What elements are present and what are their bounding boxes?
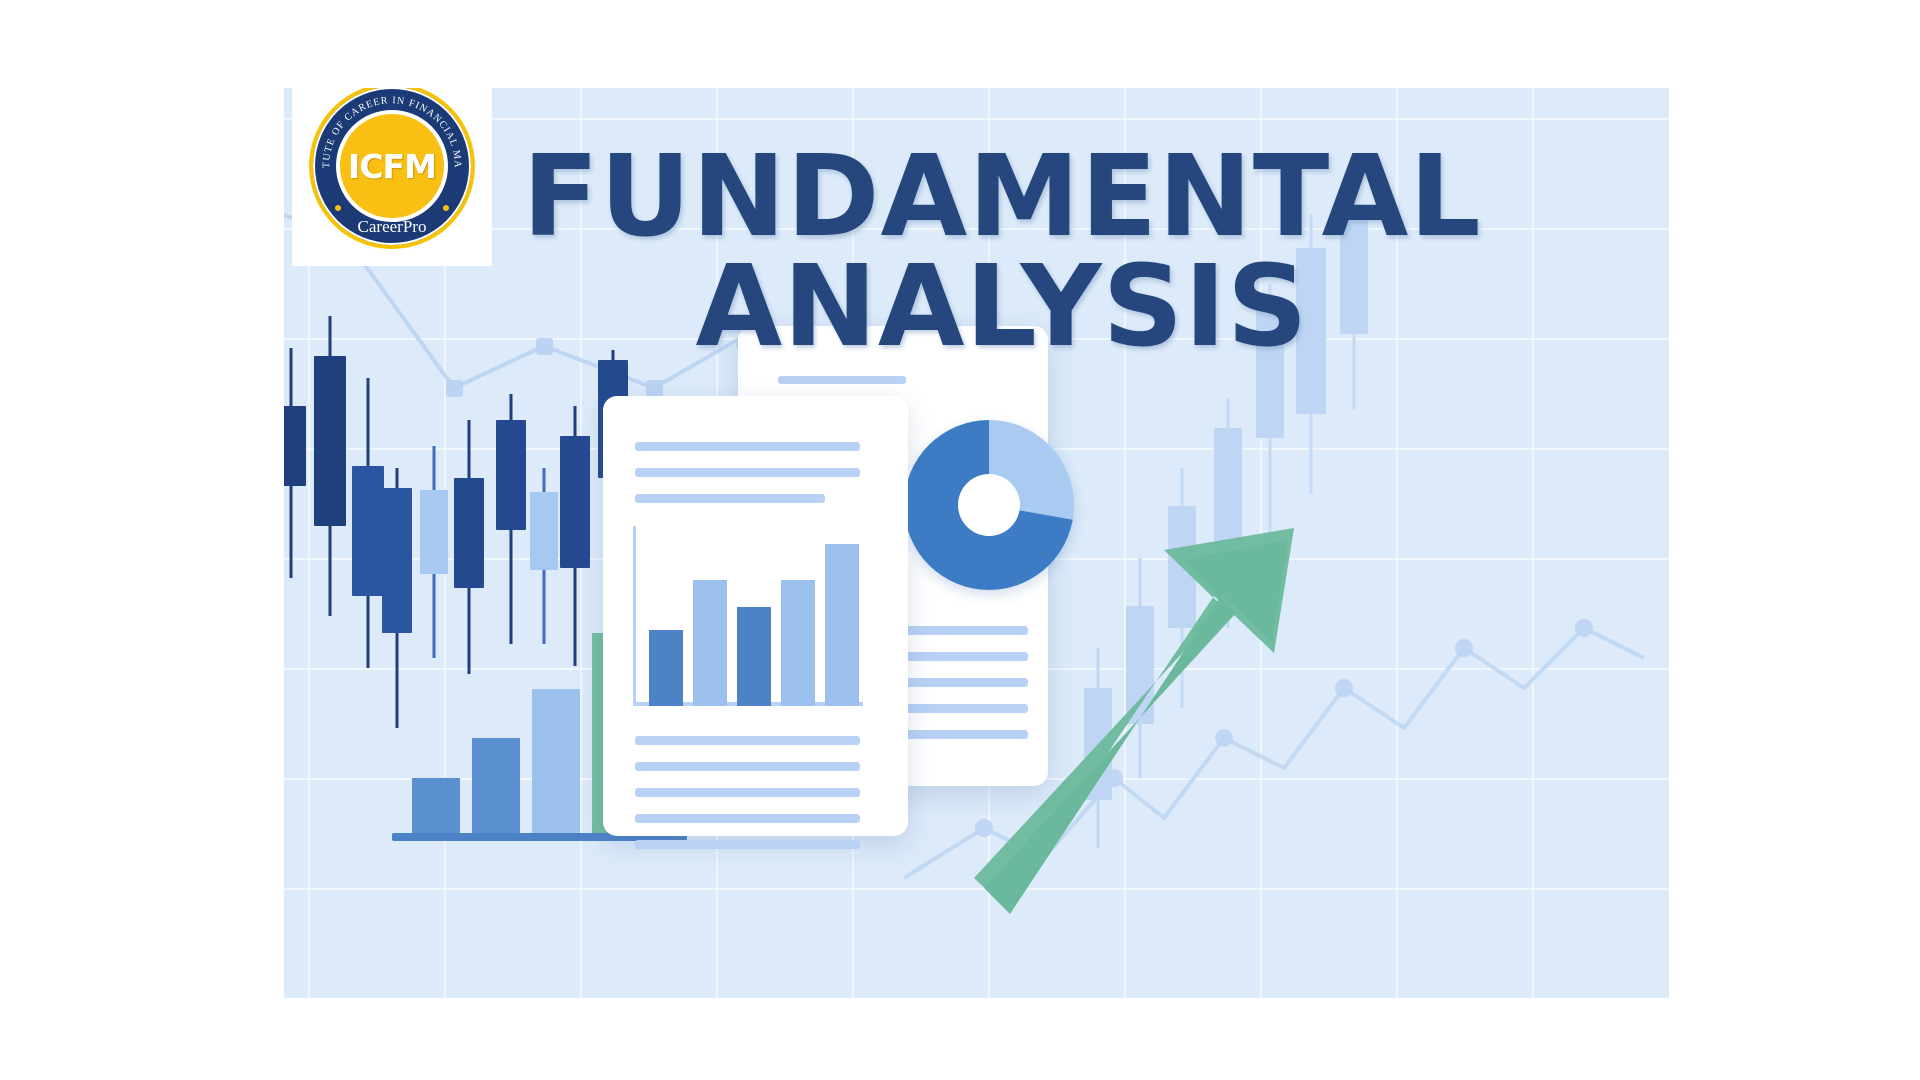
poster-canvas: FUNDAMENTAL ANALYSIS INSTITUTE OF CAREER… (0, 0, 1920, 1080)
inner-bar-3 (737, 607, 771, 706)
doc-header-line (635, 442, 860, 451)
title-line-1: FUNDAMENTAL (502, 143, 1502, 253)
banner-artwork: FUNDAMENTAL ANALYSIS INSTITUTE OF CAREER… (284, 88, 1669, 998)
doc-footer-line (635, 762, 860, 771)
inner-bar-5 (825, 544, 859, 706)
doc-footer-line (635, 736, 860, 745)
doc-header-line (778, 376, 906, 384)
inner-bar-4 (781, 580, 815, 706)
doc-header-line (635, 468, 860, 477)
logo-badge[interactable]: INSTITUTE OF CAREER IN FINANCIAL MARKET … (292, 88, 492, 266)
report-card-front (603, 396, 908, 836)
doc-footer-line (635, 814, 860, 823)
doc-footer-line (635, 788, 860, 797)
inner-bar-2 (693, 580, 727, 706)
logo-dot-left (335, 205, 341, 211)
title-line-2: ANALYSIS (502, 253, 1502, 363)
inner-bar-1 (649, 630, 683, 706)
logo-bottom-text: CareerPro (313, 217, 471, 237)
inner-chart-y-axis (633, 526, 636, 706)
donut-hole (958, 474, 1020, 536)
page-title: FUNDAMENTAL ANALYSIS (502, 143, 1502, 363)
document-inner-bar-chart (633, 526, 863, 706)
doc-footer-line (635, 840, 860, 849)
doc-header-line (635, 494, 825, 503)
logo-acronym: ICFM (348, 147, 436, 186)
logo-dot-right (443, 205, 449, 211)
logo-inner-disc: ICFM (336, 110, 448, 222)
logo-outer-ring: INSTITUTE OF CAREER IN FINANCIAL MARKET … (309, 88, 475, 249)
